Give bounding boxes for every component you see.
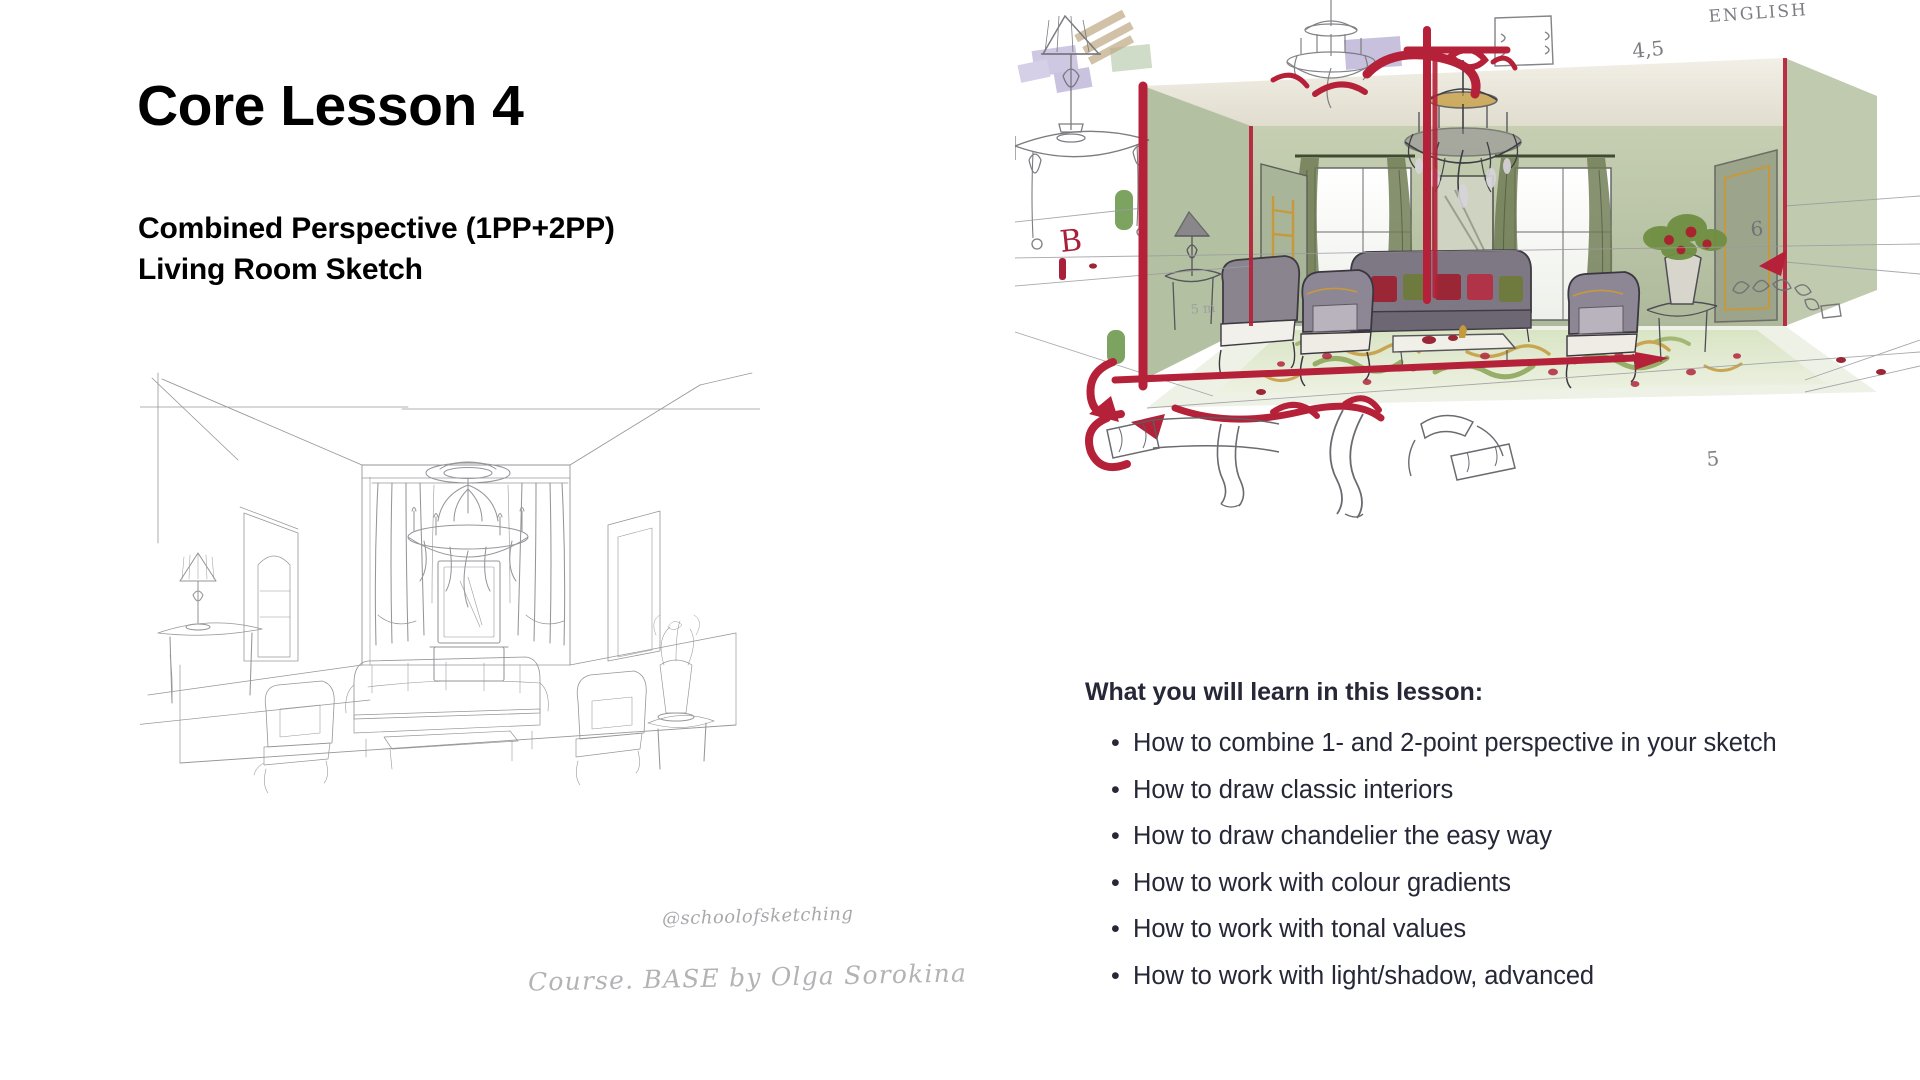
subtitle-line-1: Combined Perspective (1PP+2PP) (138, 208, 615, 249)
bullet-icon: • (1111, 917, 1133, 942)
list-item-label: How to combine 1- and 2-point perspectiv… (1133, 729, 1777, 759)
list-item-label: How to work with colour gradients (1133, 869, 1511, 899)
lesson-subtitle: Combined Perspective (1PP+2PP) Living Ro… (138, 208, 615, 290)
sketch-course-caption: Course. BASE by Olga Sorokina (528, 958, 968, 996)
list-item: • How to draw chandelier the easy way (1111, 822, 1885, 852)
sketch-handle-caption: @schoolofsketching (662, 903, 854, 929)
list-item-label: How to draw classic interiors (1133, 776, 1453, 806)
bullet-icon: • (1111, 871, 1133, 896)
list-item-label: How to work with tonal values (1133, 915, 1466, 945)
learning-objectives-block: What you will learn in this lesson: • Ho… (1085, 678, 1885, 1008)
subtitle-line-2: Living Room Sketch (138, 249, 615, 290)
left-column: Core Lesson 4 Combined Perspective (1PP+… (0, 0, 960, 1080)
pencil-sketch-image (140, 365, 760, 805)
list-item: • How to draw classic interiors (1111, 776, 1885, 806)
color-sketch-image: ENGLISH 4,5 6 5 5 m B (1015, 0, 1920, 530)
learning-objectives-heading: What you will learn in this lesson: (1085, 678, 1885, 707)
slide-root: Core Lesson 4 Combined Perspective (1PP+… (0, 0, 1920, 1080)
list-item: • How to work with colour gradients (1111, 869, 1885, 899)
svg-text:B: B (1058, 223, 1084, 260)
bullet-icon: • (1111, 778, 1133, 803)
page-title: Core Lesson 4 (137, 77, 523, 137)
learning-objectives-list: • How to combine 1- and 2-point perspect… (1085, 729, 1885, 991)
list-item: • How to work with tonal values (1111, 915, 1885, 945)
svg-text:6: 6 (1750, 216, 1764, 241)
list-item-label: How to draw chandelier the easy way (1133, 822, 1552, 852)
list-item: • How to combine 1- and 2-point perspect… (1111, 729, 1885, 759)
svg-text:5 m: 5 m (1190, 301, 1216, 318)
bullet-icon: • (1111, 824, 1133, 849)
svg-text:4,5: 4,5 (1631, 36, 1665, 63)
svg-text:5: 5 (1706, 446, 1720, 471)
list-item: • How to work with light/shadow, advance… (1111, 962, 1885, 992)
bullet-icon: • (1111, 731, 1133, 756)
bullet-icon: • (1111, 964, 1133, 989)
list-item-label: How to work with light/shadow, advanced (1133, 962, 1594, 992)
